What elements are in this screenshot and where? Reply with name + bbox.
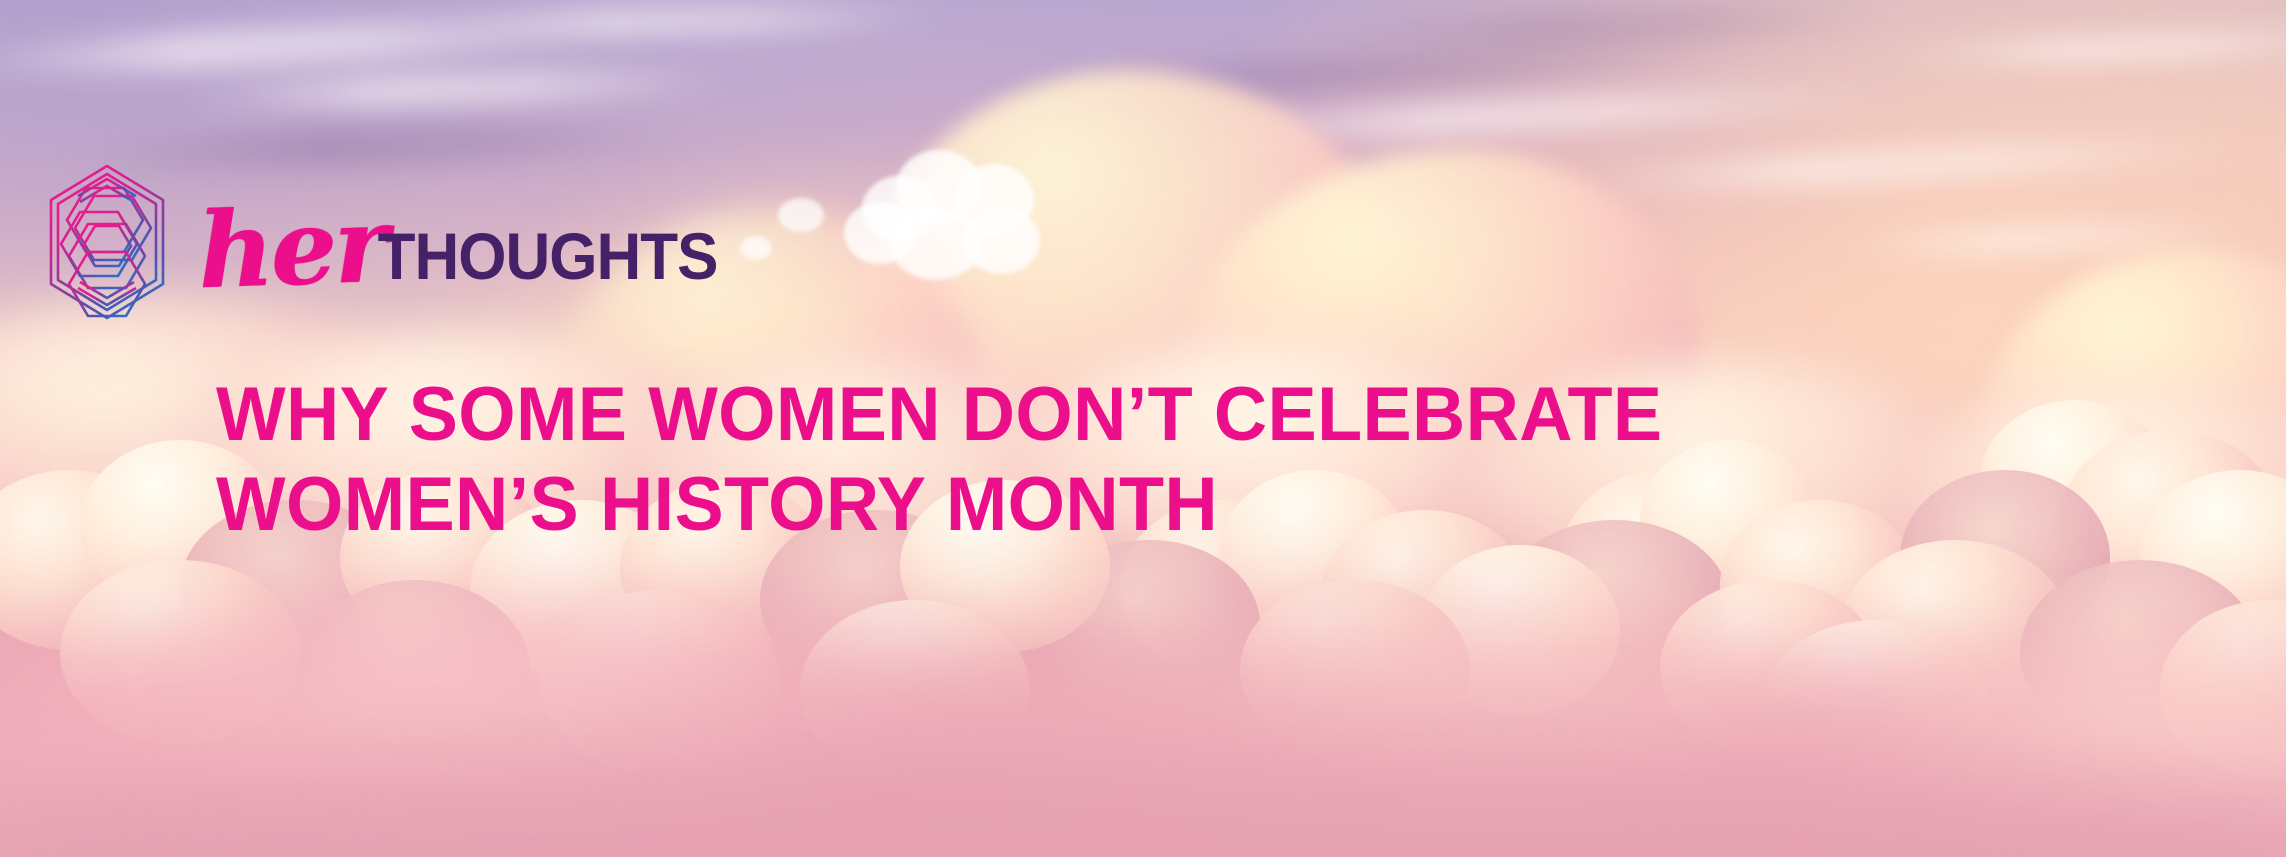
brand-logo-lockup[interactable]: her THOUGHTS <box>34 160 725 324</box>
banner-hero: her THOUGHTS WHY SOME WOMEN DON’T CELEBR… <box>0 0 2286 857</box>
headline-line-1: WHY SOME WOMEN DON’T CELEBRATE <box>216 370 1671 460</box>
thought-bubble-dot <box>740 236 772 260</box>
hexagonal-lattice-logo-icon <box>34 160 180 324</box>
page-title: WHY SOME WOMEN DON’T CELEBRATE WOMEN’S H… <box>216 370 1716 551</box>
brand-wordmark: her THOUGHTS <box>198 190 725 294</box>
wordmark-bold-thoughts: THOUGHTS <box>378 225 718 291</box>
wordmark-script-her: her <box>196 193 387 303</box>
thought-bubble-dot <box>778 198 824 232</box>
headline-line-2: WOMEN’S HISTORY MONTH <box>216 460 1671 550</box>
